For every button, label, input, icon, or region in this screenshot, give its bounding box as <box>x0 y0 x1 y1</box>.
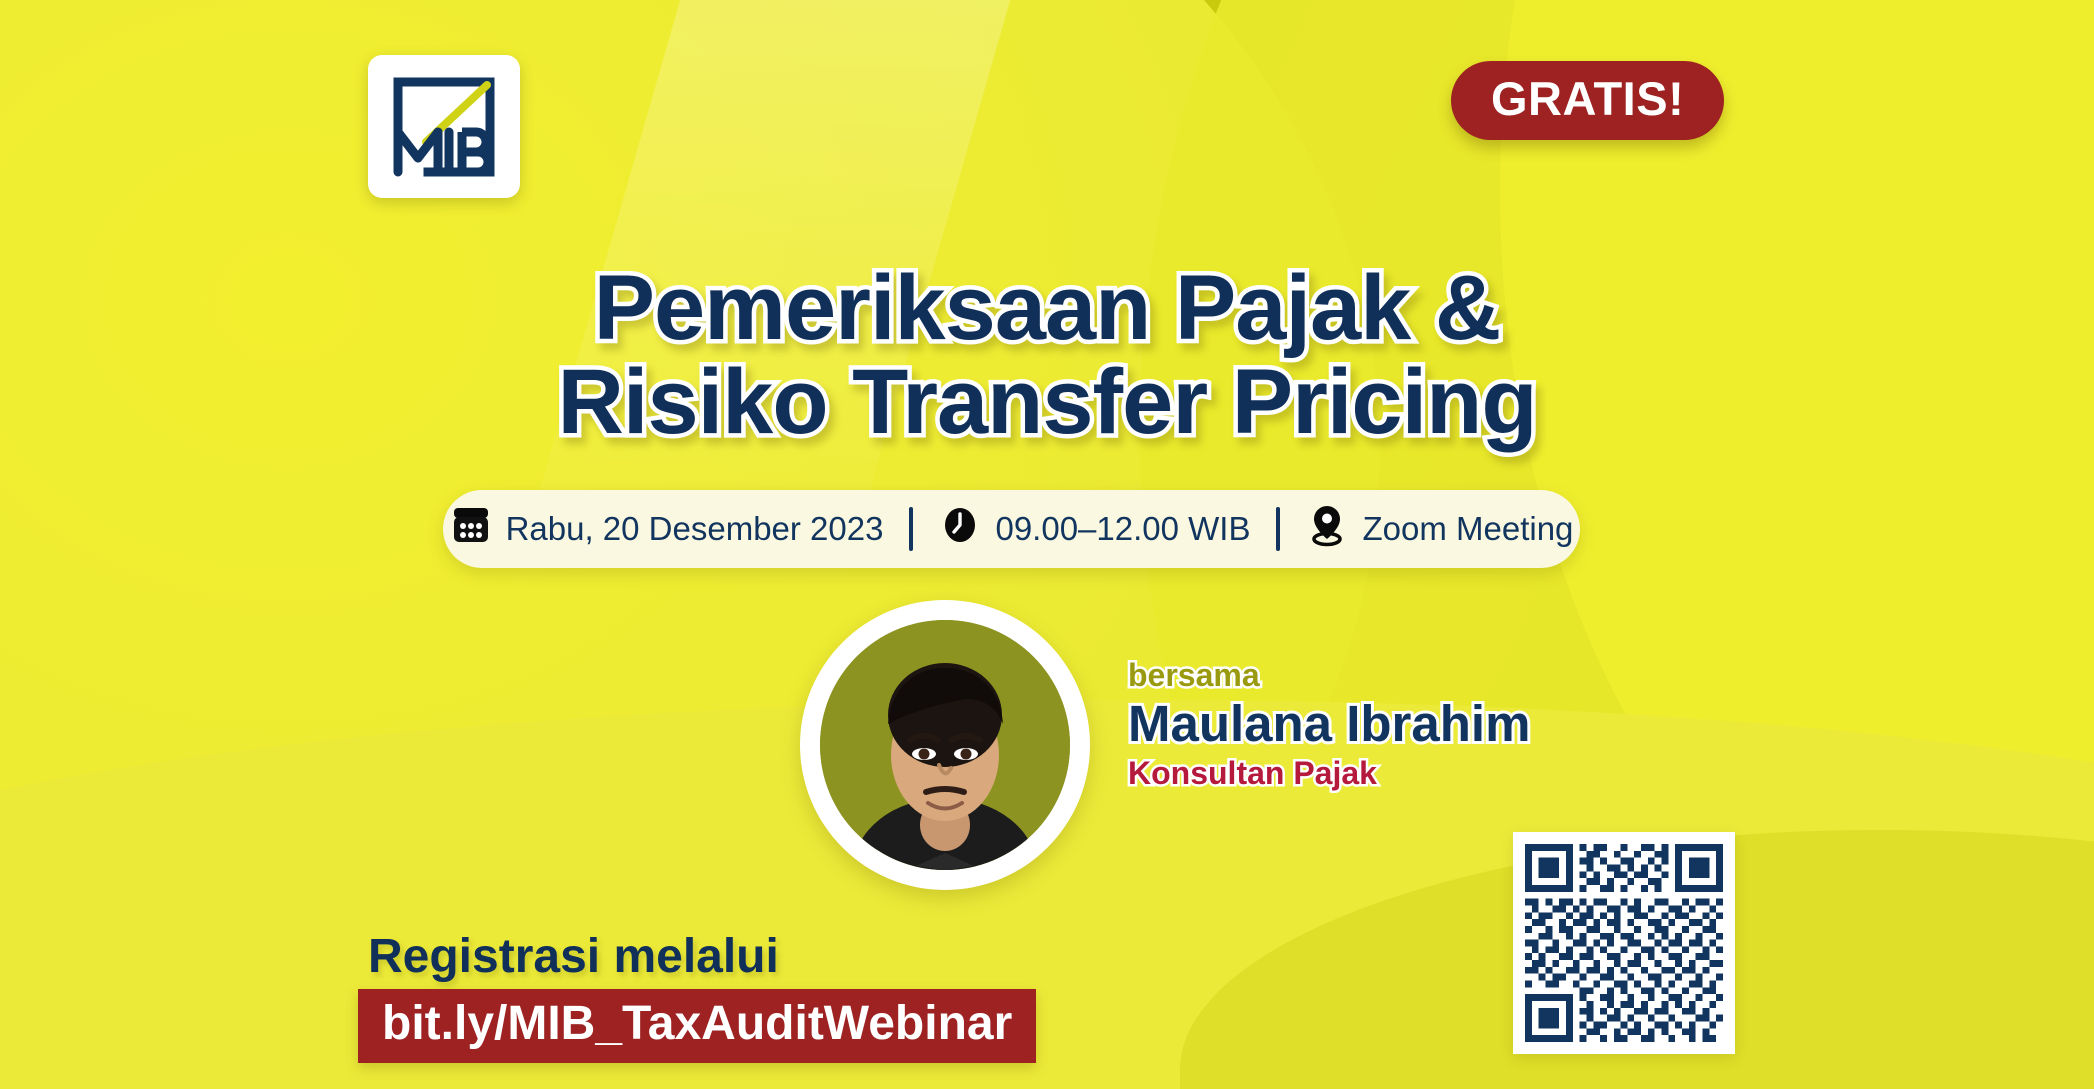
event-time: 09.00–12.00 WIB <box>939 504 1250 554</box>
qr-code-icon[interactable] <box>1513 832 1735 1054</box>
event-location-label: Zoom Meeting <box>1362 510 1573 548</box>
speaker-info: bersama Maulana Ibrahim Konsultan Pajak <box>1128 658 1530 792</box>
speaker-name: Maulana Ibrahim <box>1128 695 1530 752</box>
event-location: Zoom Meeting <box>1306 503 1573 555</box>
mib-logo <box>368 55 520 198</box>
event-info-bar: Rabu, 20 Desember 2023 09.00–12.00 WIB <box>443 490 1580 568</box>
speaker-prefix: bersama <box>1128 658 1530 693</box>
speaker-photo <box>820 620 1070 870</box>
clock-icon <box>939 504 981 554</box>
info-divider-2 <box>1276 507 1280 551</box>
event-time-label: 09.00–12.00 WIB <box>995 510 1250 548</box>
page-title: Pemeriksaan Pajak & Risiko Transfer Pric… <box>0 262 2094 450</box>
gratis-badge: GRATIS! <box>1451 61 1724 140</box>
calendar-icon <box>450 504 492 554</box>
event-date: Rabu, 20 Desember 2023 <box>450 504 884 554</box>
avatar <box>800 600 1090 890</box>
title-line-1: Pemeriksaan Pajak & <box>0 262 2094 356</box>
mib-logo-icon <box>388 74 500 180</box>
registration-url[interactable]: bit.ly/MIB_TaxAuditWebinar <box>358 989 1036 1063</box>
info-divider-1 <box>909 507 913 551</box>
webinar-banner: GRATIS! Pemeriksaan Pajak & Risiko Trans… <box>0 0 2094 1089</box>
speaker-role: Konsultan Pajak <box>1128 755 1530 792</box>
event-date-label: Rabu, 20 Desember 2023 <box>506 510 884 548</box>
location-pin-icon <box>1306 503 1348 555</box>
registration-heading: Registrasi melalui <box>368 929 779 984</box>
title-line-2: Risiko Transfer Pricing <box>0 356 2094 450</box>
